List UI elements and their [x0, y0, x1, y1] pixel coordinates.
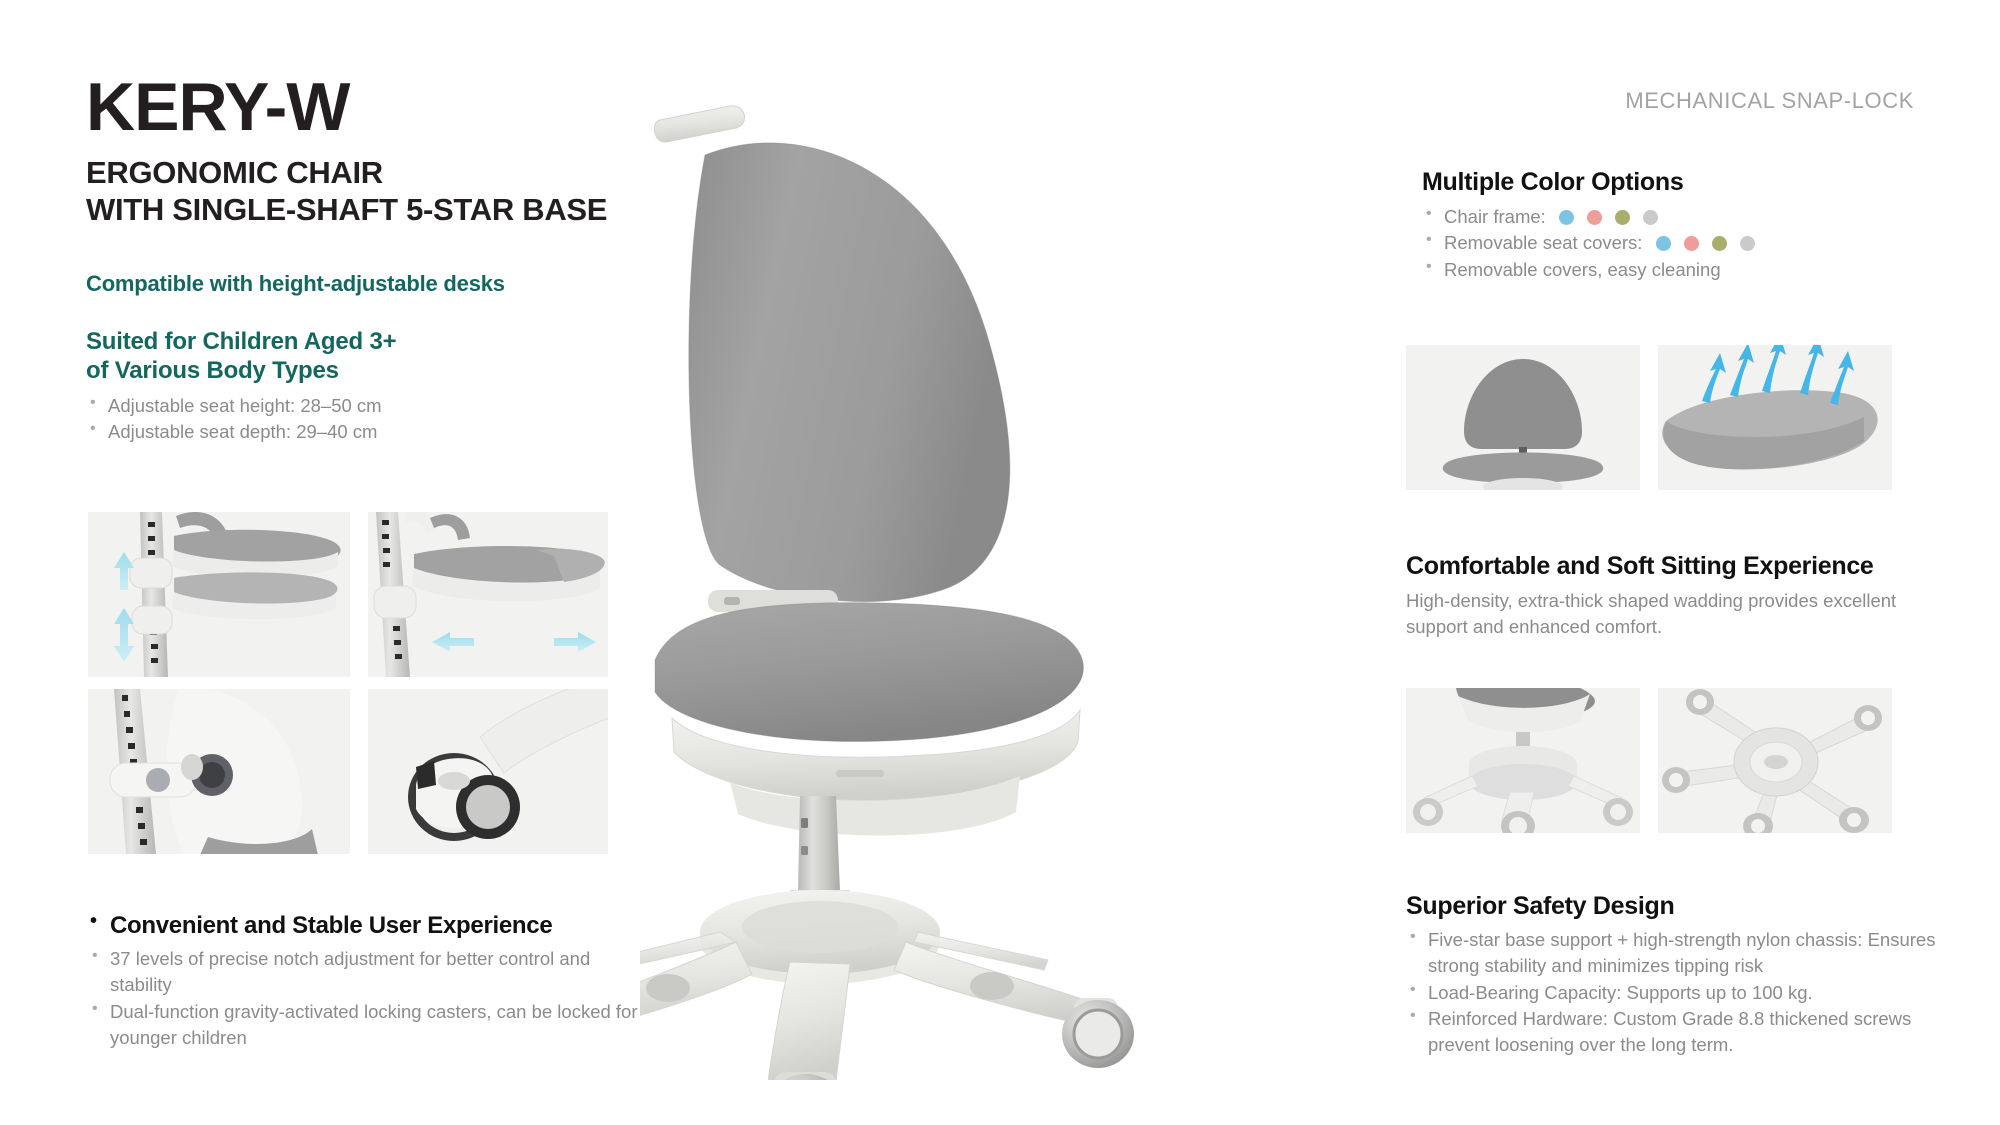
age-heading-line-1: Suited for Children Aged 3+ [86, 327, 786, 356]
infographic-page: KERY-W ERGONOMIC CHAIR WITH SINGLE-SHAFT… [0, 0, 2000, 1125]
list-item: Reinforced Hardware: Custom Grade 8.8 th… [1406, 1006, 1946, 1059]
list-item: Five-star base support + high-strength n… [1406, 927, 1946, 980]
left-text-column: KERY-W ERGONOMIC CHAIR WITH SINGLE-SHAFT… [86, 72, 786, 446]
photo-seat-height-adjustment [88, 512, 350, 677]
swatch-olive [1712, 236, 1727, 251]
convenience-heading: Convenient and Stable User Experience [88, 912, 648, 940]
photo-seat-depth-adjustment [368, 512, 608, 677]
age-suitability-heading: Suited for Children Aged 3+ of Various B… [86, 327, 786, 386]
photo-locking-caster-closeup [368, 689, 608, 854]
swatch-gray [1643, 210, 1658, 225]
photo-seat-cushion-airflow [1658, 345, 1892, 490]
safety-block: Superior Safety Design Five-star base su… [1406, 892, 1946, 1058]
safety-bullet-list: Five-star base support + high-strength n… [1406, 927, 1946, 1058]
list-item: Removable covers, easy cleaning [1422, 257, 1922, 283]
safety-photo-row [1406, 688, 1892, 833]
color-options-bullet-list: Chair frame: Removable seat covers: Remo… [1422, 204, 1922, 283]
list-item: Dual-function gravity-activated locking … [88, 999, 648, 1052]
color-options-heading: Multiple Color Options [1422, 168, 1922, 197]
swatch-olive [1615, 210, 1630, 225]
page-title: KERY-W [86, 72, 786, 143]
mechanical-snap-lock-label: MECHANICAL SNAP-LOCK [1625, 88, 1914, 114]
swatch-blue [1559, 210, 1574, 225]
subtitle-line-1: ERGONOMIC CHAIR [86, 155, 786, 192]
list-item: Chair frame: [1422, 204, 1922, 230]
swatch-pink [1587, 210, 1602, 225]
seat-covers-label: Removable seat covers: [1444, 232, 1642, 253]
subtitle-line-2: WITH SINGLE-SHAFT 5-STAR BASE [86, 192, 786, 229]
list-item: Removable seat covers: [1422, 230, 1922, 256]
comfort-photo-row [1406, 345, 1892, 490]
swatch-gray [1740, 236, 1755, 251]
comfort-body: High-density, extra-thick shaped wadding… [1406, 588, 1936, 639]
product-subtitle: ERGONOMIC CHAIR WITH SINGLE-SHAFT 5-STAR… [86, 155, 786, 228]
swatch-pink [1684, 236, 1699, 251]
age-heading-line-2: of Various Body Types [86, 356, 786, 385]
left-feature-photo-grid [88, 512, 608, 854]
list-item: 37 levels of precise notch adjustment fo… [88, 946, 648, 999]
photo-chair-front-view [1406, 345, 1640, 490]
list-item: Load-Bearing Capacity: Supports up to 10… [1406, 980, 1946, 1006]
comfort-block: Comfortable and Soft Sitting Experience … [1406, 552, 1936, 639]
convenience-feature-block: Convenient and Stable User Experience 37… [88, 912, 648, 1051]
chair-frame-label: Chair frame: [1444, 206, 1546, 227]
list-item: Adjustable seat height: 28–50 cm [86, 393, 786, 419]
comfort-heading: Comfortable and Soft Sitting Experience [1406, 552, 1936, 581]
color-options-block: Multiple Color Options Chair frame: Remo… [1422, 168, 1922, 283]
spec-bullet-list: Adjustable seat height: 28–50 cm Adjusta… [86, 393, 786, 446]
swatch-blue [1656, 236, 1671, 251]
photo-nylon-chassis-underside [1658, 688, 1892, 833]
compatibility-note: Compatible with height-adjustable desks [86, 271, 786, 297]
safety-heading: Superior Safety Design [1406, 892, 1946, 921]
photo-five-star-base-view [1406, 688, 1640, 833]
list-item: Adjustable seat depth: 29–40 cm [86, 419, 786, 445]
photo-notch-lock-knob [88, 689, 350, 854]
convenience-bullet-list: 37 levels of precise notch adjustment fo… [88, 946, 648, 1051]
